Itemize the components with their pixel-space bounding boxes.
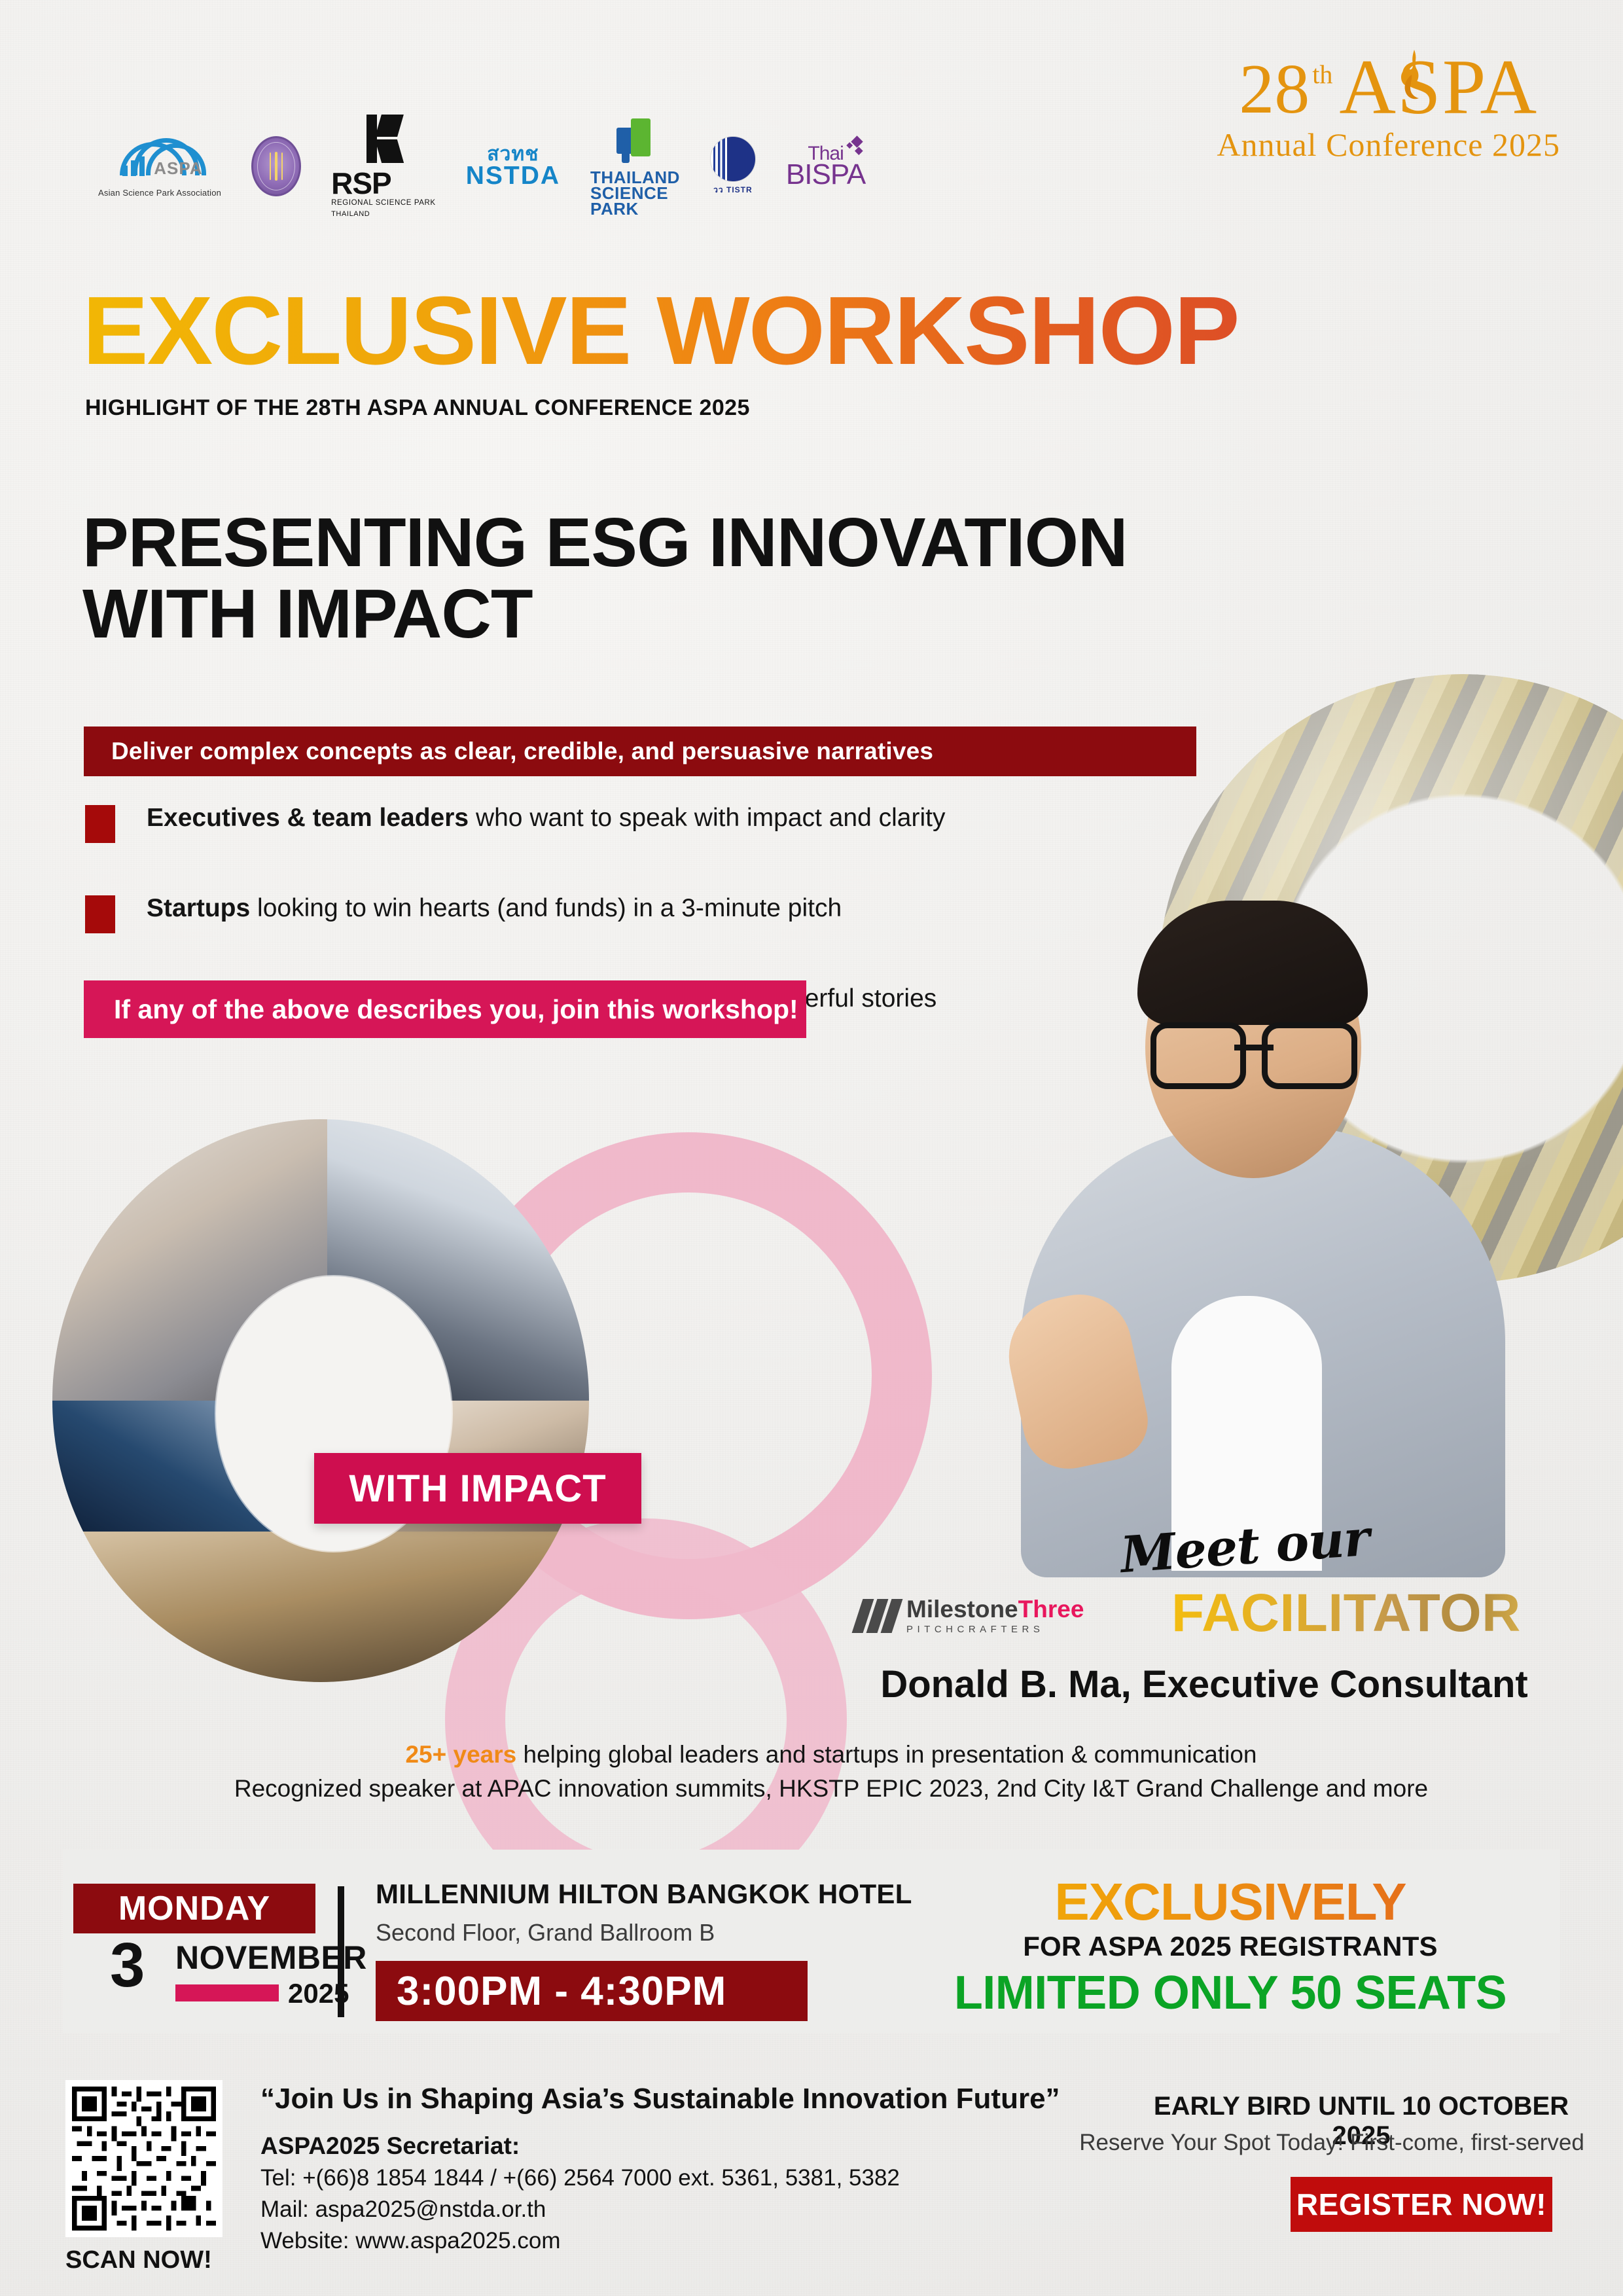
hero-kicker: EXCLUSIVE WORKSHOP bbox=[82, 283, 1239, 380]
facilitator-bio-line2: Recognized speaker at APAC innovation su… bbox=[157, 1775, 1505, 1803]
tree-icon bbox=[616, 116, 653, 163]
list-item: Executives & team leaders who want to sp… bbox=[85, 804, 1106, 843]
conference-subtitle: Annual Conference 2025 bbox=[1217, 126, 1560, 164]
rsp-logo-word: RSP bbox=[331, 170, 436, 197]
conference-lockup: 28 th ASPA Annual Conference 2025 bbox=[1217, 52, 1560, 164]
flame-icon bbox=[1392, 48, 1434, 117]
red-tagline-text: Deliver complex concepts as clear, credi… bbox=[111, 738, 933, 765]
conference-ordinal-number: 28 bbox=[1239, 58, 1310, 121]
aspa-logo-word: ASPA bbox=[154, 158, 202, 179]
qr-code-image bbox=[72, 2087, 216, 2231]
with-impact-badge: WITH IMPACT bbox=[314, 1453, 641, 1524]
aspa-logo-mark: ASPA bbox=[116, 135, 204, 185]
secretariat-label: ASPA2025 Secretariat: bbox=[260, 2132, 520, 2160]
page-title-line1: PRESENTING ESG INNOVATION bbox=[82, 507, 1128, 579]
bio-highlight: 25+ years bbox=[405, 1741, 516, 1768]
logo-royal-seal bbox=[251, 136, 301, 196]
tsp-line3: PARK bbox=[590, 201, 680, 217]
conference-ordinal-suffix: th bbox=[1312, 62, 1332, 88]
bio-line1-rest: helping global leaders and startups in p… bbox=[516, 1741, 1257, 1768]
page-title: PRESENTING ESG INNOVATION WITH IMPACT bbox=[82, 507, 1128, 650]
m3-tagline: PITCHCRAFTERS bbox=[906, 1624, 1084, 1635]
exclusivity-block: EXCLUSIVELY FOR ASPA 2025 REGISTRANTS LI… bbox=[916, 1876, 1544, 2020]
royal-seal-icon bbox=[251, 136, 301, 196]
logo-nstda: สวทช NSTDA bbox=[466, 145, 560, 188]
photo-collage: WITH IMPACT bbox=[52, 1060, 942, 1715]
weekday-badge: MONDAY bbox=[73, 1884, 315, 1933]
rsp-mark-icon bbox=[366, 115, 401, 163]
partner-logo-row: ASPA Asian Science Park Association RSP … bbox=[98, 115, 865, 218]
globe-icon bbox=[710, 136, 756, 182]
facilitator-title: FACILITATOR bbox=[1171, 1583, 1521, 1644]
contact-mail: Mail: aspa2025@nstda.or.th bbox=[260, 2197, 546, 2223]
bullet-rest-1: who want to speak with impact and clarit… bbox=[469, 804, 945, 832]
aspa-logo-caption: Asian Science Park Association bbox=[98, 188, 221, 198]
venue-room: Second Floor, Grand Ballroom B bbox=[376, 1919, 715, 1946]
footer-quote: “Join Us in Shaping Asia’s Sustainable I… bbox=[260, 2083, 1060, 2115]
with-impact-label: WITH IMPACT bbox=[349, 1467, 606, 1511]
bullet-square-icon bbox=[85, 805, 115, 843]
bullet-bold-2: Startups bbox=[147, 894, 250, 922]
facilitator-portrait bbox=[975, 838, 1544, 1571]
event-time: 3:00PM - 4:30PM bbox=[397, 1968, 726, 2015]
event-day-number: 3 bbox=[110, 1934, 145, 1997]
limited-seats-label: LIMITED ONLY 50 SEATS bbox=[916, 1966, 1544, 2020]
m3-word2: Three bbox=[1018, 1596, 1084, 1623]
for-registrants-label: FOR ASPA 2025 REGISTRANTS bbox=[916, 1931, 1544, 1962]
scan-now-label: SCAN NOW! bbox=[65, 2246, 212, 2274]
qr-code[interactable] bbox=[65, 2080, 223, 2237]
nstda-latin-word: NSTDA bbox=[466, 163, 560, 188]
pink-cta-band: If any of the above describes you, join … bbox=[84, 980, 806, 1038]
reserve-subtext: Reserve Your Spot Today! First-come, fir… bbox=[1073, 2130, 1590, 2156]
time-badge: 3:00PM - 4:30PM bbox=[376, 1961, 808, 2021]
logo-thai-bispa: Thai BISPA bbox=[786, 145, 865, 187]
diamond-icon bbox=[851, 136, 863, 148]
rsp-logo-country: THAILAND bbox=[331, 210, 436, 218]
contact-tel: Tel: +(66)8 1854 1844 / +(66) 2564 7000 … bbox=[260, 2165, 900, 2191]
bullet-bold-1: Executives & team leaders bbox=[147, 804, 469, 832]
m3-word1: Milestone bbox=[906, 1596, 1018, 1623]
portrait-hair bbox=[1137, 901, 1368, 1025]
hero-highlight-line: HIGHLIGHT OF THE 28TH ASPA ANNUAL CONFER… bbox=[85, 395, 750, 421]
conference-acronym: ASPA bbox=[1339, 52, 1538, 122]
register-now-button[interactable]: REGISTER NOW! bbox=[1291, 2177, 1552, 2232]
logo-tistr: วว TISTR bbox=[710, 136, 756, 196]
pink-rule bbox=[175, 1984, 279, 2001]
logo-rsp: RSP REGIONAL SCIENCE PARK THAILAND bbox=[331, 115, 436, 218]
exclusively-label: EXCLUSIVELY bbox=[916, 1876, 1544, 1928]
page-title-line2: WITH IMPACT bbox=[82, 579, 1128, 650]
contact-website: Website: www.aspa2025.com bbox=[260, 2228, 560, 2254]
list-item: Startups looking to win hearts (and fund… bbox=[85, 894, 1106, 933]
tistr-caption: วว TISTR bbox=[713, 184, 752, 196]
facilitator-name: Donald B. Ma, Executive Consultant bbox=[838, 1662, 1571, 1706]
glasses-icon bbox=[1150, 1022, 1357, 1077]
weekday-label: MONDAY bbox=[118, 1889, 270, 1928]
bullet-square-icon bbox=[85, 895, 115, 933]
logo-thailand-science-park: THAILAND SCIENCE PARK bbox=[590, 116, 680, 217]
rsp-logo-sub: REGIONAL SCIENCE PARK bbox=[331, 199, 436, 207]
bullet-rest-2: looking to win hearts (and funds) in a 3… bbox=[250, 894, 842, 922]
milestone-bars-icon bbox=[857, 1599, 897, 1633]
collage-photo-5 bbox=[52, 1532, 589, 1682]
venue-name: MILLENNIUM HILTON BANGKOK HOTEL bbox=[376, 1878, 912, 1910]
bispa-line2: BISPA bbox=[786, 162, 865, 187]
logo-aspa: ASPA Asian Science Park Association bbox=[98, 135, 221, 198]
pink-cta-text: If any of the above describes you, join … bbox=[114, 994, 798, 1025]
register-now-label: REGISTER NOW! bbox=[1296, 2187, 1546, 2222]
vertical-divider bbox=[338, 1886, 344, 2017]
milestone-three-logo: MilestoneThree PITCHCRAFTERS bbox=[857, 1597, 1084, 1635]
red-tagline-band: Deliver complex concepts as clear, credi… bbox=[84, 726, 1196, 776]
facilitator-bio-line1: 25+ years helping global leaders and sta… bbox=[157, 1741, 1505, 1768]
